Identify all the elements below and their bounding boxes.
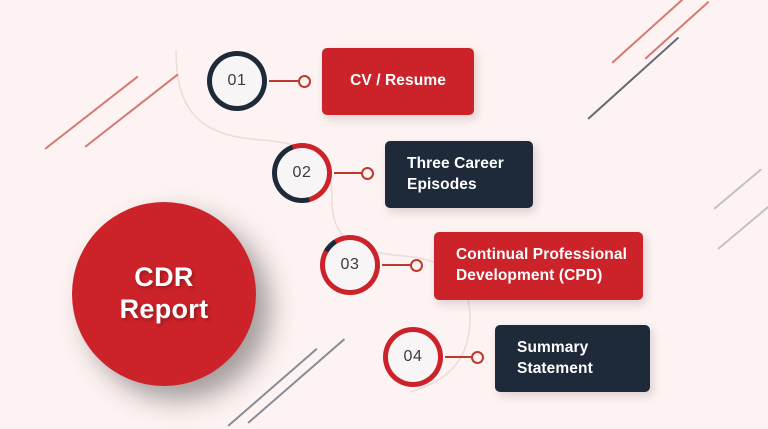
step-01-connector-line xyxy=(269,80,300,82)
step-04-number-label: 04 xyxy=(404,348,423,366)
step-02-number-label: 02 xyxy=(293,164,312,182)
step-03-number-circle[interactable]: 03 xyxy=(320,235,380,295)
step-02-connector-dot xyxy=(361,167,374,180)
step-02-box-label-line-1: Three Career xyxy=(407,154,504,175)
step-01-number-circle[interactable]: 01 xyxy=(207,51,267,111)
step-04-box-label-line-2: Statement xyxy=(517,359,593,380)
infographic-canvas: CDR Report 01CV / Resume02Three CareerEp… xyxy=(0,0,768,429)
hub-label-line-1: CDR xyxy=(120,262,209,294)
step-02-box-label: Three CareerEpisodes xyxy=(407,154,504,196)
step-04-number-circle[interactable]: 04 xyxy=(383,327,443,387)
step-03-connector-line xyxy=(382,264,412,266)
cdr-report-hub: CDR Report xyxy=(72,202,256,386)
hub-label-line-2: Report xyxy=(120,294,209,326)
step-03-box-label-line-2: Development (CPD) xyxy=(456,266,627,287)
step-02-box-label-line-2: Episodes xyxy=(407,175,504,196)
step-01-box-label-line-1: CV / Resume xyxy=(350,71,446,92)
step-04-connector-line xyxy=(445,356,473,358)
step-03-box[interactable]: Continual ProfessionalDevelopment (CPD) xyxy=(434,232,643,300)
step-01-box[interactable]: CV / Resume xyxy=(322,48,474,115)
step-01-number-label: 01 xyxy=(228,72,247,90)
step-03-number-label: 03 xyxy=(341,256,360,274)
step-02-number-circle[interactable]: 02 xyxy=(272,143,332,203)
step-04-box[interactable]: SummaryStatement xyxy=(495,325,650,392)
cdr-report-hub-label: CDR Report xyxy=(120,262,209,326)
step-01-box-label: CV / Resume xyxy=(350,71,446,92)
step-04-box-label-line-1: Summary xyxy=(517,338,593,359)
step-01-connector-dot xyxy=(298,75,311,88)
step-04-box-label: SummaryStatement xyxy=(517,338,593,380)
step-04-connector-dot xyxy=(471,351,484,364)
step-03-box-label: Continual ProfessionalDevelopment (CPD) xyxy=(456,245,627,287)
step-02-connector-line xyxy=(334,172,363,174)
step-02-box[interactable]: Three CareerEpisodes xyxy=(385,141,533,208)
step-03-connector-dot xyxy=(410,259,423,272)
step-03-box-label-line-1: Continual Professional xyxy=(456,245,627,266)
